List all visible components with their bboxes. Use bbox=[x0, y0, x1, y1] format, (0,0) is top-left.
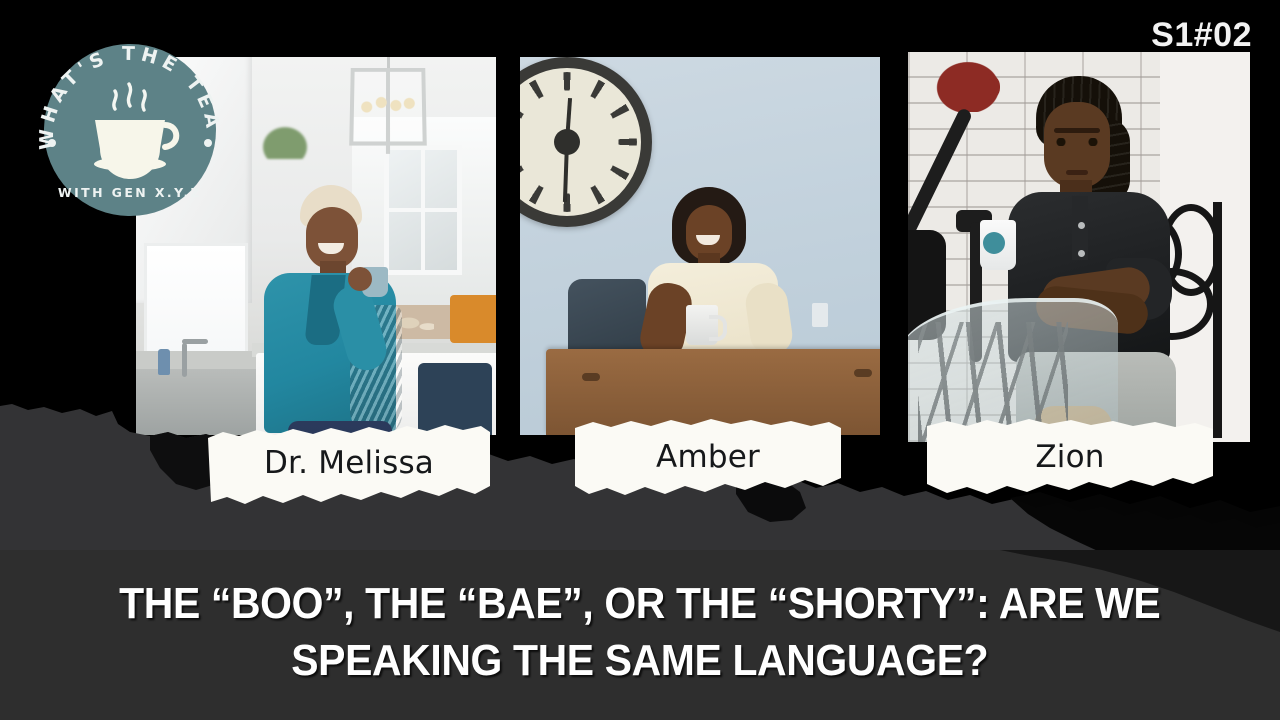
name-label-text: Amber bbox=[656, 439, 760, 475]
lantern-chandelier-icon bbox=[342, 57, 434, 157]
name-label-text: Zion bbox=[1035, 439, 1104, 475]
name-label-melissa: Dr. Melissa bbox=[205, 424, 493, 506]
episode-title-line-1: THE “BOO”, THE “BAE”, OR THE “SHORTY”: A… bbox=[119, 576, 1160, 632]
wall-outlet bbox=[812, 303, 828, 327]
video-panel-zion[interactable] bbox=[908, 52, 1250, 442]
show-logo[interactable]: WHAT'S THE TEA? WITH GEN X.Y.Z bbox=[27, 27, 233, 233]
episode-title-line-2: SPEAKING THE SAME LANGUAGE? bbox=[291, 633, 988, 689]
kitchen-orange-object bbox=[450, 295, 496, 343]
video-frame-zion bbox=[908, 52, 1250, 442]
name-label-zion: Zion bbox=[925, 418, 1215, 498]
soap-bottle bbox=[158, 349, 170, 375]
name-label-text: Dr. Melissa bbox=[264, 445, 434, 481]
mug-icon bbox=[980, 220, 1016, 270]
name-label-amber: Amber bbox=[573, 418, 843, 498]
person-melissa bbox=[254, 185, 404, 435]
video-frame-amber bbox=[520, 57, 880, 435]
logo-tagline: WITH GEN X.Y.Z bbox=[58, 185, 202, 200]
episode-badge: S1#02 bbox=[1151, 18, 1252, 52]
mug-icon bbox=[686, 305, 718, 345]
faucet-icon bbox=[182, 343, 187, 377]
video-panel-amber[interactable] bbox=[520, 57, 880, 435]
episode-title: THE “BOO”, THE “BAE”, OR THE “SHORTY”: A… bbox=[0, 545, 1280, 720]
kitchen-plant bbox=[254, 119, 316, 159]
episode-thumbnail: Dr. Melissa Amber Zion WHAT'S THE TEA? bbox=[0, 0, 1280, 720]
